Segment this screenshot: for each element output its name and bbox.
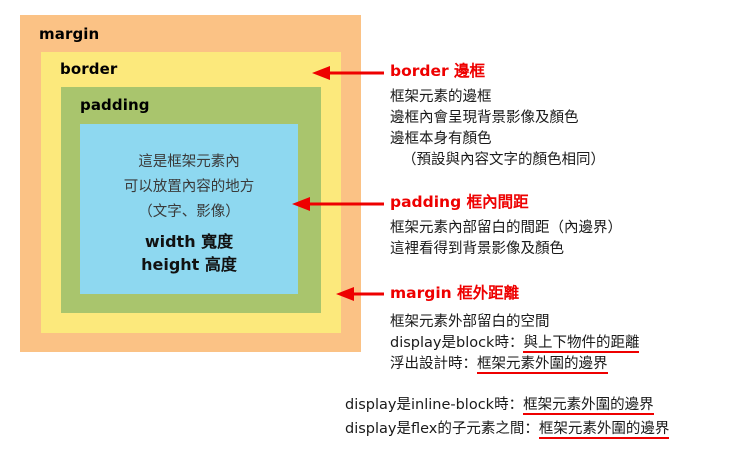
float-value: 框架元素外圍的邊界 bbox=[477, 356, 608, 374]
annotation-border-line-4: （預設與內容文字的顏色相同） bbox=[390, 150, 605, 171]
annotation-border-line-1: 框架元素的邊框 bbox=[390, 87, 605, 108]
annotation-padding: padding 框內間距 框架元素內部留白的間距（內邊界） 這裡看得到背景影像及… bbox=[390, 190, 622, 260]
content-description: 這是框架元素內 可以放置內容的地方 （文字、影像） bbox=[80, 150, 298, 225]
flex-value: 框架元素外圍的邊界 bbox=[539, 421, 670, 439]
content-dimensions: width 寬度 height 高度 bbox=[80, 230, 298, 276]
bottom-inline-block-line: display是inline-block時：框架元素外圍的邊界 bbox=[345, 393, 669, 417]
annotation-border-line-3: 邊框本身有顏色 bbox=[390, 129, 605, 150]
display-block-prefix: display是block時： bbox=[390, 335, 523, 351]
left-arrow-icon-border bbox=[312, 64, 384, 82]
content-line-3: （文字、影像） bbox=[80, 200, 298, 225]
annotation-margin: margin 框外距離 框架元素外部留白的空間 display是block時：與… bbox=[390, 281, 639, 375]
float-prefix: 浮出設計時： bbox=[390, 356, 477, 372]
inline-block-value: 框架元素外圍的邊界 bbox=[523, 397, 654, 415]
annotation-border-line-2: 邊框內會呈現背景影像及顏色 bbox=[390, 108, 605, 129]
display-block-value: 與上下物件的距離 bbox=[523, 335, 639, 353]
content-height-label: height 高度 bbox=[80, 253, 298, 276]
annotation-margin-float: 浮出設計時：框架元素外圍的邊界 bbox=[390, 354, 639, 375]
annotation-margin-line-1: 框架元素外部留白的空間 bbox=[390, 312, 639, 333]
content-line-2: 可以放置內容的地方 bbox=[80, 175, 298, 200]
annotation-padding-title: padding 框內間距 bbox=[390, 190, 622, 212]
content-line-1: 這是框架元素內 bbox=[80, 150, 298, 175]
content-layer: 這是框架元素內 可以放置內容的地方 （文字、影像） width 寬度 heigh… bbox=[80, 124, 298, 294]
annotation-margin-body: 框架元素外部留白的空間 display是block時：與上下物件的距離 浮出設計… bbox=[390, 312, 639, 375]
annotation-padding-line-2: 這裡看得到背景影像及顏色 bbox=[390, 239, 622, 260]
annotation-margin-display-block: display是block時：與上下物件的距離 bbox=[390, 333, 639, 354]
flex-prefix: display是flex的子元素之間： bbox=[345, 421, 539, 437]
css-box-model-diagram: 這是框架元素內 可以放置內容的地方 （文字、影像） width 寬度 heigh… bbox=[20, 15, 361, 352]
annotation-padding-body: 框架元素內部留白的間距（內邊界） 這裡看得到背景影像及顏色 bbox=[390, 218, 622, 260]
padding-label: padding bbox=[80, 96, 150, 114]
margin-label: margin bbox=[39, 25, 99, 43]
annotation-border-title: border 邊框 bbox=[390, 59, 605, 81]
annotation-margin-title: margin 框外距離 bbox=[390, 281, 639, 303]
border-label: border bbox=[60, 60, 117, 78]
left-arrow-icon-padding bbox=[292, 195, 384, 213]
annotation-padding-line-1: 框架元素內部留白的間距（內邊界） bbox=[390, 218, 622, 239]
inline-block-prefix: display是inline-block時： bbox=[345, 397, 523, 413]
bottom-notes: display是inline-block時：框架元素外圍的邊界 display是… bbox=[345, 393, 669, 441]
bottom-flex-line: display是flex的子元素之間：框架元素外圍的邊界 bbox=[345, 417, 669, 441]
annotation-border: border 邊框 框架元素的邊框 邊框內會呈現背景影像及顏色 邊框本身有顏色 … bbox=[390, 59, 605, 171]
content-width-label: width 寬度 bbox=[80, 230, 298, 253]
left-arrow-icon-margin bbox=[336, 285, 384, 303]
annotation-border-body: 框架元素的邊框 邊框內會呈現背景影像及顏色 邊框本身有顏色 （預設與內容文字的顏… bbox=[390, 87, 605, 171]
